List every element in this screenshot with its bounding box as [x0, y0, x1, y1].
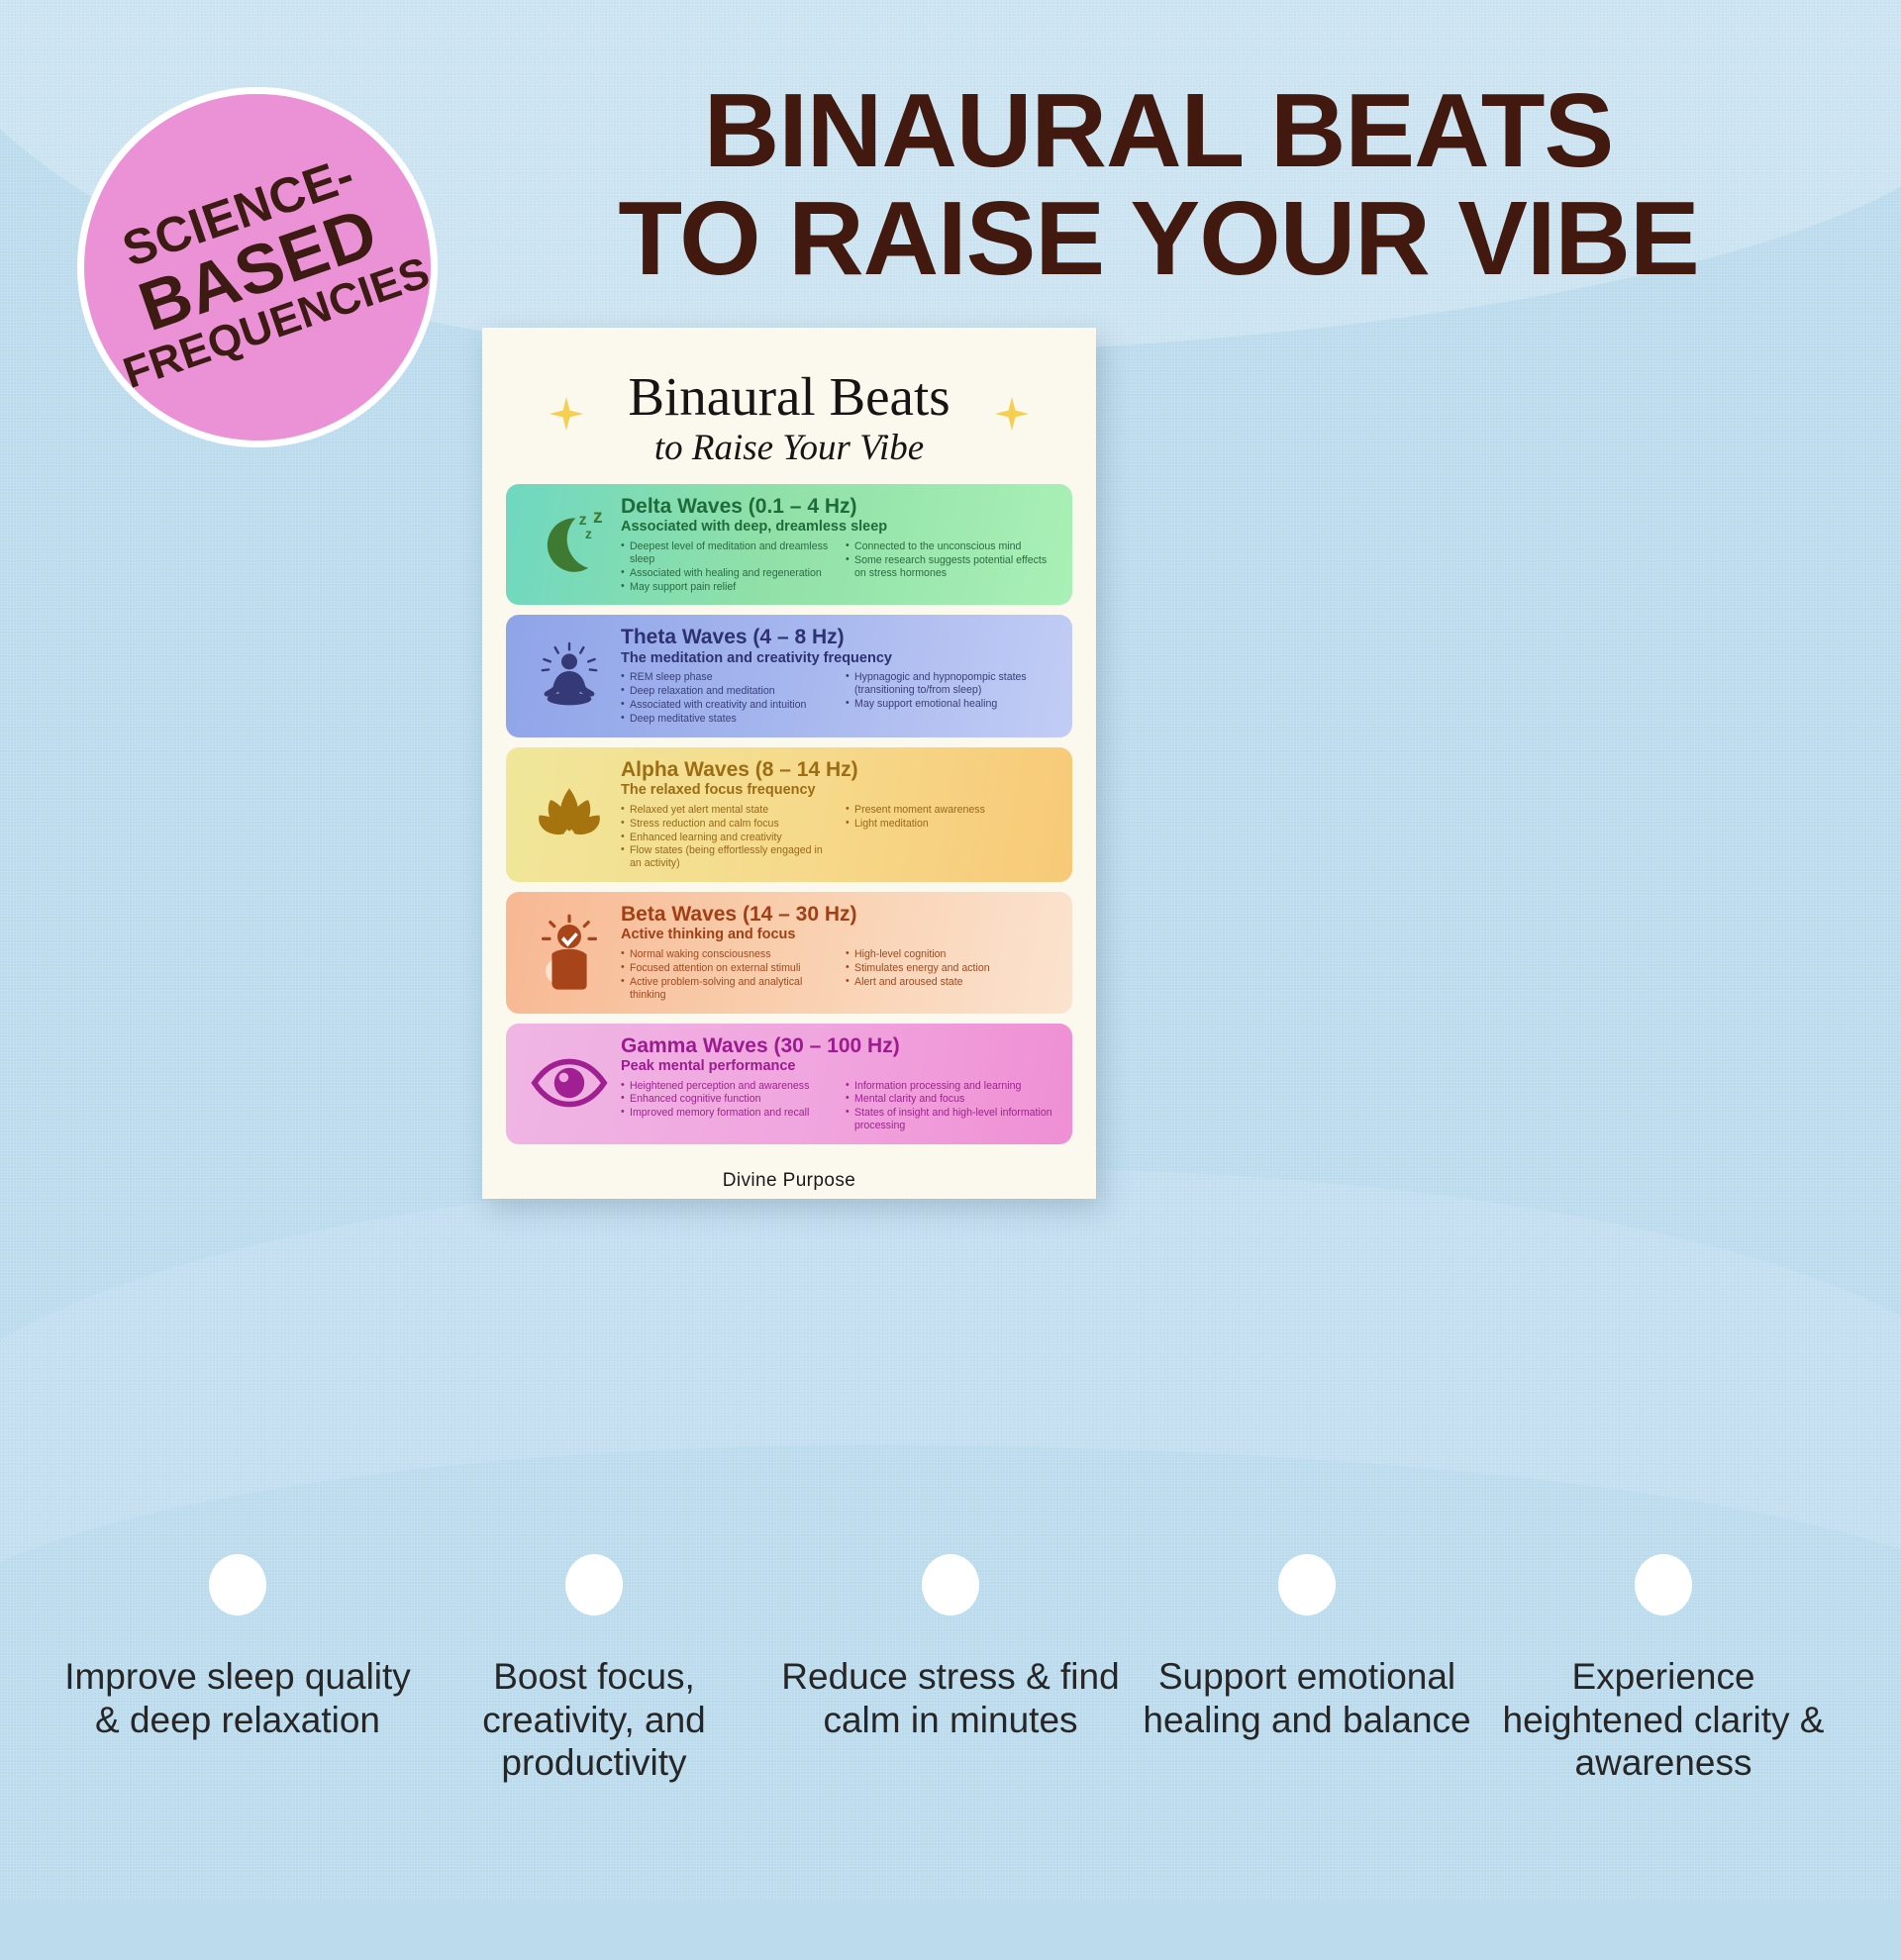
wave-card-subtitle: The relaxed focus frequency [621, 782, 1060, 799]
benefit-item: Experience heightened clarity & awarenes… [1485, 1554, 1842, 1785]
sparkle-icon-left [550, 397, 583, 431]
bullet-item: May support pain relief [621, 581, 836, 594]
wave-card-title: Delta Waves (0.1 – 4 Hz) [621, 495, 1060, 518]
benefit-dot-icon [565, 1554, 623, 1616]
wave-card-bullets: Deepest level of meditation and dreamles… [621, 540, 1060, 595]
benefit-label: Reduce stress & find calm in minutes [772, 1655, 1129, 1741]
svg-text:z: z [585, 527, 592, 541]
wave-card-body: Theta Waves (4 – 8 Hz)The meditation and… [621, 624, 1060, 726]
bullet-item: Associated with creativity and intuition [621, 699, 836, 712]
wave-card-delta: zzzDelta Waves (0.1 – 4 Hz)Associated wi… [506, 484, 1072, 605]
moon-sleep-icon: zzz [518, 504, 621, 583]
wave-card-title: Beta Waves (14 – 30 Hz) [621, 903, 1060, 926]
benefit-label: Improve sleep quality & deep relaxation [59, 1655, 416, 1741]
wave-card-bullets: Normal waking consciousnessFocused atten… [621, 948, 1060, 1003]
benefit-label: Boost focus, creativity, and productivit… [416, 1655, 772, 1785]
bullet-column-left: Heightened perception and awarenessEnhan… [621, 1080, 836, 1134]
bullet-item: Light meditation [846, 818, 1060, 831]
bullet-item: Present moment awareness [846, 804, 1060, 817]
bullet-item: Mental clarity and focus [846, 1093, 1060, 1106]
poster-header: Binaural Beats to Raise Your Vibe [506, 347, 1072, 484]
wave-card-bullets: Heightened perception and awarenessEnhan… [621, 1080, 1060, 1134]
wave-card-body: Alpha Waves (8 – 14 Hz)The relaxed focus… [621, 756, 1060, 871]
poster-title: Binaural Beats [506, 369, 1072, 424]
bullet-item: States of insight and high-level informa… [846, 1107, 1060, 1132]
benefit-label: Support emotional healing and balance [1129, 1655, 1485, 1741]
wave-card-body: Gamma Waves (30 – 100 Hz)Peak mental per… [621, 1032, 1060, 1133]
headline-line-1: BINAURAL BEATS [465, 77, 1851, 185]
bullet-column-right: Hypnagogic and hypnopompic states (trans… [846, 671, 1060, 727]
bullet-item: Hypnagogic and hypnopompic states (trans… [846, 671, 1060, 697]
bullet-column-left: Normal waking consciousnessFocused atten… [621, 948, 836, 1003]
wave-card-title: Theta Waves (4 – 8 Hz) [621, 626, 1060, 648]
svg-text:z: z [579, 512, 587, 529]
lotus-flower-icon [518, 774, 621, 853]
page-headline: BINAURAL BEATS TO RAISE YOUR VIBE [465, 77, 1851, 293]
poster-footer-brand: Divine Purpose [506, 1154, 1072, 1202]
bullet-item: Information processing and learning [846, 1080, 1060, 1093]
wave-card-bullets: REM sleep phaseDeep relaxation and medit… [621, 671, 1060, 727]
wave-card-body: Delta Waves (0.1 – 4 Hz)Associated with … [621, 493, 1060, 594]
benefit-item: Boost focus, creativity, and productivit… [416, 1554, 772, 1785]
wave-card-body: Beta Waves (14 – 30 Hz)Active thinking a… [621, 901, 1060, 1002]
bullet-column-left: Relaxed yet alert mental stateStress red… [621, 804, 836, 872]
poster-card: Binaural Beats to Raise Your Vibe zzzDel… [482, 328, 1096, 1199]
bullet-item: Stimulates energy and action [846, 962, 1060, 975]
wave-card-bullets: Relaxed yet alert mental stateStress red… [621, 804, 1060, 872]
wave-card-theta: Theta Waves (4 – 8 Hz)The meditation and… [506, 615, 1072, 736]
bullet-item: Relaxed yet alert mental state [621, 804, 836, 817]
bullet-column-right: High-level cognitionStimulates energy an… [846, 948, 1060, 1003]
benefit-dot-icon [1278, 1554, 1336, 1616]
bullet-item: Heightened perception and awareness [621, 1080, 836, 1093]
wave-card-subtitle: Associated with deep, dreamless sleep [621, 519, 1060, 536]
bullet-item: REM sleep phase [621, 671, 836, 684]
bullet-item: Stress reduction and calm focus [621, 818, 836, 831]
sparkle-icon-right [995, 397, 1029, 431]
bullet-item: Alert and aroused state [846, 976, 1060, 989]
bullet-item: Deep relaxation and meditation [621, 685, 836, 698]
bullet-column-right: Present moment awarenessLight meditation [846, 804, 1060, 872]
benefit-label: Experience heightened clarity & awarenes… [1485, 1655, 1842, 1785]
bullet-column-left: REM sleep phaseDeep relaxation and medit… [621, 671, 836, 727]
benefit-item: Reduce stress & find calm in minutes [772, 1554, 1129, 1785]
svg-text:z: z [593, 507, 603, 528]
bullet-item: Some research suggests potential effects… [846, 554, 1060, 580]
bullet-item: May support emotional healing [846, 698, 1060, 711]
wave-card-title: Alpha Waves (8 – 14 Hz) [621, 758, 1060, 781]
bullet-item: Associated with healing and regeneration [621, 567, 836, 580]
bullet-column-right: Information processing and learningMenta… [846, 1080, 1060, 1134]
bullet-item: Enhanced learning and creativity [621, 832, 836, 844]
wave-card-alpha: Alpha Waves (8 – 14 Hz)The relaxed focus… [506, 747, 1072, 882]
benefit-item: Improve sleep quality & deep relaxation [59, 1554, 416, 1785]
bullet-item: Focused attention on external stimuli [621, 962, 836, 975]
bullet-item: Active problem-solving and analytical th… [621, 976, 836, 1002]
bullet-column-left: Deepest level of meditation and dreamles… [621, 540, 836, 595]
benefits-row: Improve sleep quality & deep relaxationB… [59, 1554, 1842, 1785]
bullet-item: Flow states (being effortlessly engaged … [621, 844, 836, 870]
bullet-item: Connected to the unconscious mind [846, 540, 1060, 553]
bullet-item: High-level cognition [846, 948, 1060, 961]
benefit-dot-icon [1635, 1554, 1692, 1616]
wave-card-beta: Beta Waves (14 – 30 Hz)Active thinking a… [506, 892, 1072, 1013]
bullet-item: Deepest level of meditation and dreamles… [621, 540, 836, 566]
bullet-item: Deep meditative states [621, 713, 836, 726]
benefit-item: Support emotional healing and balance [1129, 1554, 1485, 1785]
benefit-dot-icon [209, 1554, 266, 1616]
wave-card-title: Gamma Waves (30 – 100 Hz) [621, 1034, 1060, 1057]
benefit-dot-icon [922, 1554, 979, 1616]
wave-card-gamma: Gamma Waves (30 – 100 Hz)Peak mental per… [506, 1024, 1072, 1144]
headline-line-2: TO RAISE YOUR VIBE [465, 185, 1851, 293]
bullet-item: Improved memory formation and recall [621, 1107, 836, 1120]
bullet-column-right: Connected to the unconscious mindSome re… [846, 540, 1060, 595]
third-eye-icon [518, 1043, 621, 1123]
head-lightbulb-icon [518, 913, 621, 992]
wave-card-list: zzzDelta Waves (0.1 – 4 Hz)Associated wi… [506, 484, 1072, 1144]
wave-card-subtitle: The meditation and creativity frequency [621, 650, 1060, 667]
poster-subtitle: to Raise Your Vibe [506, 430, 1072, 466]
wave-card-subtitle: Active thinking and focus [621, 927, 1060, 943]
meditating-person-icon [518, 636, 621, 715]
wave-card-subtitle: Peak mental performance [621, 1058, 1060, 1075]
bullet-item: Enhanced cognitive function [621, 1093, 836, 1106]
bullet-item: Normal waking consciousness [621, 948, 836, 961]
